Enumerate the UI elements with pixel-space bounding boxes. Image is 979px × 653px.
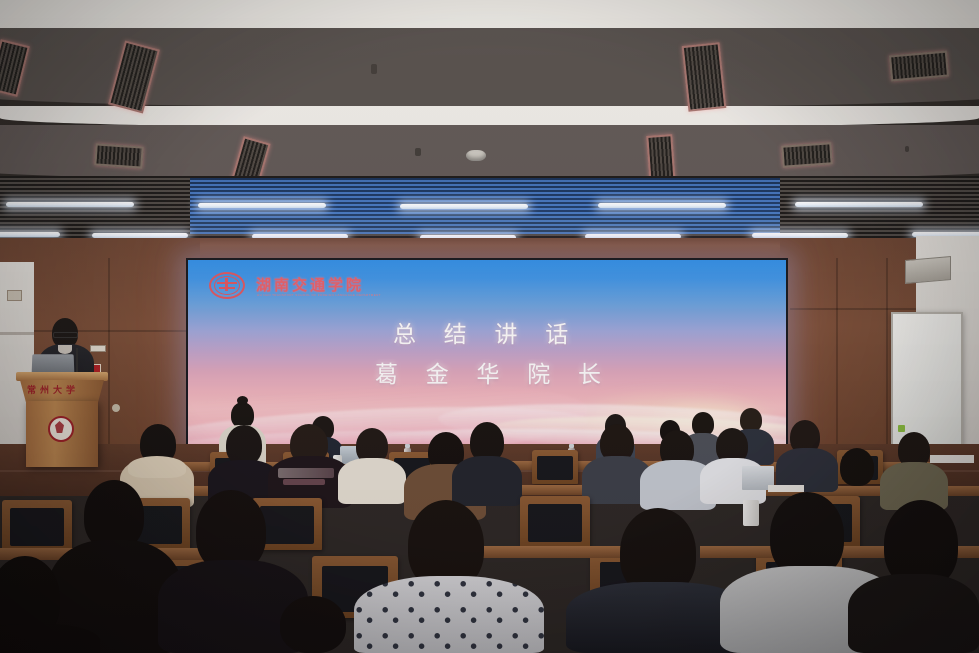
podium-school-name: 常州大学 — [27, 383, 79, 396]
podium-top-surface — [16, 372, 108, 381]
smoke-detector-icon — [466, 150, 486, 161]
chair-seat-pad — [528, 504, 582, 542]
audience-body-foreground — [354, 576, 544, 653]
presenter-collar — [58, 345, 72, 354]
notes-paper — [930, 455, 974, 463]
jacket-logo-text — [278, 468, 334, 478]
lecture-hall-photo: 湖南交通学院 HU NAN TRANSPORT SCHOOL OF FOREIG… — [0, 0, 979, 653]
ceiling-light-strip — [598, 203, 726, 208]
wall-switch-plate[interactable] — [90, 345, 106, 352]
water-bottle-cap — [405, 444, 410, 448]
water-bottle-cap — [569, 444, 574, 448]
chair-seat-pad — [10, 508, 64, 546]
audience-body — [452, 456, 522, 506]
slide-title-line1: 总 结 讲 话 — [393, 315, 579, 349]
ceiling-fixture-dot — [415, 148, 421, 156]
wall-panel-seam — [790, 308, 920, 310]
ceiling-white-strip-top — [0, 0, 979, 30]
presenter-glasses-icon — [53, 332, 78, 338]
wall-panel-box — [7, 290, 22, 301]
ceiling-air-vent — [781, 142, 832, 167]
door-knob-icon[interactable] — [112, 404, 120, 412]
audience-hair-bun-icon — [237, 396, 248, 405]
whiteboard-marker-clip-icon — [898, 425, 905, 432]
microphone-stand-icon — [76, 348, 78, 374]
audience-head — [840, 448, 874, 486]
notes-paper — [768, 485, 804, 492]
wall-plaster-trim-left — [0, 332, 34, 335]
institution-logo-bar-icon — [225, 278, 228, 291]
ceiling-air-vent — [94, 143, 143, 168]
institution-logo-text: 湖南交通学院 — [256, 274, 364, 295]
audience-head-foreground — [280, 596, 346, 653]
chair-seat-pad — [537, 456, 573, 480]
ceiling-air-vent — [889, 51, 949, 82]
paper-cup — [743, 500, 759, 526]
ceiling-fixture-dot — [371, 64, 377, 74]
chair-seat-pad — [260, 506, 314, 544]
ceiling-air-vent — [682, 42, 727, 112]
wall-speaker — [905, 256, 951, 284]
ceiling-light-strip — [795, 202, 923, 207]
audience-body-foreground — [848, 574, 979, 653]
audience-hood — [128, 456, 186, 478]
ceiling-light-strip — [198, 203, 326, 208]
ceiling-light-strip — [6, 202, 134, 207]
ceiling-light-strip — [0, 232, 60, 237]
audience-body — [338, 458, 406, 504]
audience-head — [226, 425, 262, 465]
jacket-logo-text2 — [283, 479, 325, 485]
ceiling-fixture-dot — [905, 146, 909, 152]
wall-wood-panel-center-top — [200, 238, 780, 260]
institution-logo-subtext: HU NAN TRANSPORT SCHOOL OF FOREIGN LANGU… — [257, 293, 381, 297]
ceiling-light-strip — [400, 204, 528, 209]
slide-title-line2: 葛 金 华 院 长 — [375, 355, 612, 389]
ceiling-dark-band-2 — [0, 125, 979, 181]
audience-body-foreground — [0, 624, 100, 653]
